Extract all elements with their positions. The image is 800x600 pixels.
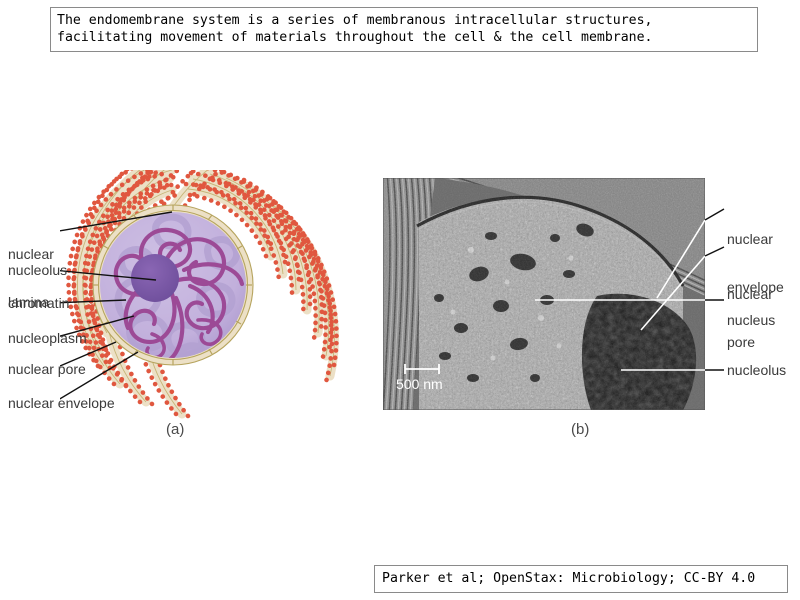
label-nuclear-pore-a: nuclear pore (8, 361, 86, 377)
panel-b-tag: (b) (571, 421, 589, 438)
label-nucleolus-a: nucleolus (8, 262, 67, 278)
label-nucleoplasm: nucleoplasm (8, 330, 87, 346)
scale-bar-label: 500 nm (396, 376, 443, 392)
attribution-text: Parker et al; OpenStax: Microbiology; CC… (382, 570, 780, 587)
label-nuclear-envelope-b-line-1: nuclear (727, 231, 784, 247)
label-nucleolus-b: nucleolus (727, 362, 786, 378)
nucleus-illustration (60, 170, 360, 420)
label-nucleus-b: nucleus (727, 312, 775, 328)
panel-a-tag: (a) (166, 421, 184, 438)
header-caption-line-2: facilitating movement of materials throu… (57, 29, 751, 46)
label-nuclear-envelope-a: nuclear envelope (8, 395, 115, 411)
label-chromatin: chromatin (8, 295, 69, 311)
slide-canvas: The endomembrane system is a series of m… (0, 0, 800, 600)
label-nuclear-lamina-line-1: nuclear (8, 246, 54, 262)
label-nuclear-lamina: nuclear lamina (8, 214, 54, 342)
attribution-box: Parker et al; OpenStax: Microbiology; CC… (374, 565, 788, 593)
header-caption-box: The endomembrane system is a series of m… (50, 7, 758, 52)
header-caption-line-1: The endomembrane system is a series of m… (57, 12, 751, 29)
label-nuclear-pore-b-line-1: nuclear (727, 286, 773, 302)
label-nuclear-pore-b-line-2: pore (727, 334, 773, 350)
